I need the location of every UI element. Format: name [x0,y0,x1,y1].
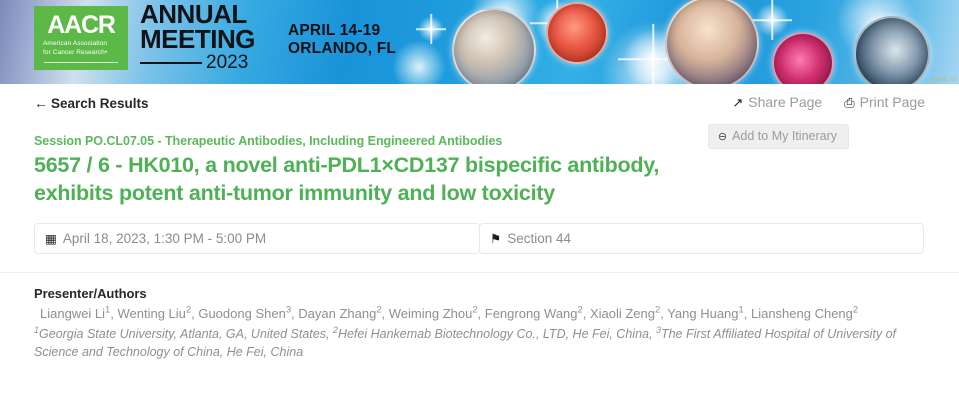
author-entry: Weiming Zhou2 [389,306,478,321]
aacr-logo[interactable]: AACR American Association for Cancer Res… [34,6,128,70]
site-banner: AACR American Association for Cancer Res… [0,0,959,84]
author-entry: Fengrong Wang2 [485,306,583,321]
affiliation-marker: 3 [656,325,661,335]
back-to-search-results-link[interactable]: ←Search Results [34,95,149,111]
author-entry: Wenting Liu2 [117,306,191,321]
annual-meeting-wordmark: ANNUAL MEETING 2023 [140,2,255,72]
add-to-my-itinerary-button[interactable]: ⊖ Add to My Itinerary [708,124,849,149]
session-location-value: Section 44 [507,231,571,246]
left-arrow-icon: ← [34,95,48,111]
session-datetime-value: April 18, 2023, 1:30 PM - 5:00 PM [63,231,266,246]
minus-circle-icon: ⊖ [718,130,727,143]
author-entry: Guodong Shen3 [198,306,291,321]
banner-photo-scientist [854,16,930,84]
meeting-city: ORLANDO, FL [288,40,396,58]
share-icon: ↗ [732,96,743,109]
author-affiliation-marker: 1 [105,305,110,315]
banner-photo-cell [772,32,834,84]
author-entry: Yang Huang1 [667,306,744,321]
session-location-box: ⚑ Section 44 [479,223,924,254]
author-affiliation-marker: 2 [376,305,381,315]
author-affiliation-marker: 2 [472,305,477,315]
meeting-date-location: APRIL 14-19 ORLANDO, FL [288,22,396,58]
affiliation-marker: 2 [333,325,338,335]
section-divider [0,272,959,273]
abstract-detail-page: ←Search Results ↗ Share Page ⎙ Print Pag… [0,84,959,361]
author-entry: Liangwei Li1 [40,306,110,321]
back-link-label: Search Results [51,96,149,111]
affiliation-entry: 2Hefei Hankemab Biotechnology Co., LTD, … [333,327,653,341]
banner-photo-researcher [452,8,536,84]
banner-corner-code: 23000 12 [931,77,957,83]
meeting-dates: APRIL 14-19 [288,22,396,40]
author-affiliation-marker: 3 [286,305,291,315]
aacr-logo-tagline: American Association for Cancer Research… [43,40,119,58]
aacr-tagline-line-1: American Association [43,40,119,49]
author-affiliation-marker: 2 [186,305,191,315]
page-action-links: ↗ Share Page ⎙ Print Page [732,94,925,110]
affiliation-list: 1Georgia State University, Atlanta, GA, … [34,325,925,361]
page-title: 5657 / 6 - HK010, a novel anti-PDL1×CD13… [34,152,684,207]
share-page-label: Share Page [748,94,822,110]
wordmark-year-rule [140,62,202,64]
banner-photo-patients [665,0,759,84]
calendar-icon: ▦ [45,233,57,246]
wordmark-meeting: MEETING [140,27,255,52]
author-entry: Dayan Zhang2 [298,306,381,321]
affiliation-marker: 1 [34,325,39,335]
aacr-logo-acronym: AACR [47,13,114,38]
logo-divider [44,62,118,63]
presenter-authors-heading: Presenter/Authors [34,286,925,301]
banner-photo-tissue [546,2,608,64]
print-page-button[interactable]: ⎙ Print Page [844,94,925,110]
add-to-my-itinerary-label: Add to My Itinerary [732,129,837,143]
print-page-label: Print Page [860,94,925,110]
aacr-tagline-line-2: for Cancer Research• [43,49,119,58]
bokeh-glow [392,40,446,84]
author-affiliation-marker: 2 [578,305,583,315]
printer-icon: ⎙ [844,96,854,109]
author-entry: Xiaoli Zeng2 [590,306,660,321]
map-pin-icon: ⚑ [490,233,501,246]
wordmark-year: 2023 [206,53,248,72]
session-datetime-box: ▦ April 18, 2023, 1:30 PM - 5:00 PM [34,223,480,254]
sparkle-icon [416,14,446,44]
author-affiliation-marker: 1 [739,305,744,315]
page-toolbar: ←Search Results ↗ Share Page ⎙ Print Pag… [34,84,925,140]
share-page-button[interactable]: ↗ Share Page [732,94,822,110]
author-entry: Liansheng Cheng2 [751,306,858,321]
author-affiliation-marker: 2 [655,305,660,315]
affiliation-entry: 1Georgia State University, Atlanta, GA, … [34,327,329,341]
presenter-authors-section: Presenter/Authors Liangwei Li1, Wenting … [34,286,925,361]
author-affiliation-marker: 2 [853,305,858,315]
author-list: Liangwei Li1, Wenting Liu2, Guodong Shen… [34,304,925,324]
abstract-meta-row: ▦ April 18, 2023, 1:30 PM - 5:00 PM ⚑ Se… [34,223,925,254]
wordmark-year-row: 2023 [140,53,255,72]
